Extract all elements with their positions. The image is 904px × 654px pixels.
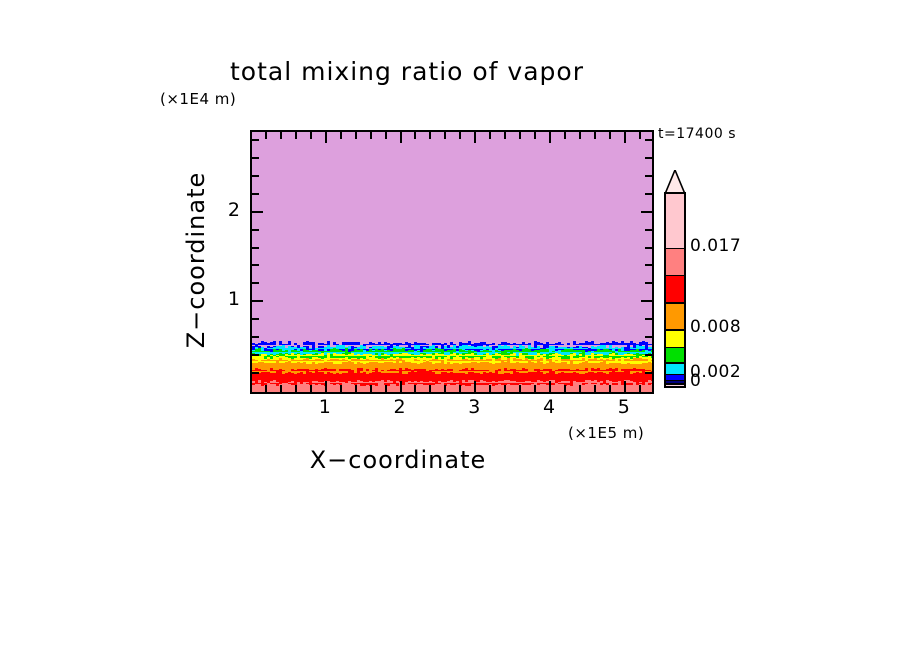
x-tick <box>370 385 372 392</box>
y-tick <box>252 318 259 320</box>
contour-edge-noise <box>651 383 654 384</box>
contour-edge-noise <box>453 356 456 357</box>
contour-edge-noise <box>552 383 555 385</box>
x-tick <box>564 385 566 392</box>
contour-edge-noise <box>354 371 357 373</box>
y-axis-title: Z−coordinate <box>182 172 210 349</box>
x-tick <box>579 385 581 392</box>
y-tick-label: 2 <box>216 199 240 221</box>
y-tick <box>252 247 259 249</box>
x-tick <box>549 381 551 392</box>
y-tick-right <box>645 175 652 177</box>
contour-edge-noise <box>387 345 390 346</box>
x-tick <box>459 385 461 392</box>
contour-edge-noise <box>405 345 408 347</box>
x-tick-top <box>474 132 476 143</box>
contour-field <box>252 132 652 392</box>
x-tick-top <box>385 132 387 139</box>
contour-edge-noise <box>414 371 417 372</box>
contour-edge-noise <box>396 371 399 373</box>
x-tick <box>534 385 536 392</box>
contour-edge-noise <box>516 356 519 358</box>
colorbar <box>664 192 686 388</box>
x-tick <box>609 385 611 392</box>
x-tick-top <box>340 132 342 139</box>
contour-edge-noise <box>651 356 654 358</box>
figure-title: total mixing ratio of vapor <box>0 57 859 86</box>
colorbar-separator <box>666 302 684 304</box>
y-tick-right <box>645 372 652 374</box>
contour-edge-noise <box>369 356 372 357</box>
x-tick <box>295 385 297 392</box>
x-tick <box>355 385 357 392</box>
x-tick-top <box>519 132 521 139</box>
contour-edge-noise <box>312 371 315 373</box>
contour-edge-noise <box>423 361 426 362</box>
x-tick-top <box>429 132 431 139</box>
contour-edge-noise <box>534 371 537 372</box>
contour-edge-noise <box>582 356 585 357</box>
contour-edge-noise <box>546 361 549 363</box>
contour-edge-noise <box>621 371 624 372</box>
x-tick <box>594 385 596 392</box>
y-tick <box>252 354 259 356</box>
y-tick <box>252 175 259 177</box>
contour-edge-noise <box>510 371 513 374</box>
x-tick <box>250 385 252 392</box>
contour-edge-noise <box>639 371 642 373</box>
y-tick <box>252 229 259 231</box>
contour-edge-noise <box>345 361 348 362</box>
contour-edge-noise <box>507 352 510 353</box>
contour-edge-noise <box>444 356 447 357</box>
contour-edge-noise <box>372 371 375 372</box>
y-tick <box>252 157 259 159</box>
contour-edge-noise <box>342 382 345 383</box>
contour-edge-noise <box>408 371 411 372</box>
contour-edge-noise <box>429 356 432 358</box>
x-tick-top <box>609 132 611 139</box>
colorbar-segment <box>666 302 684 329</box>
x-tick-top <box>250 132 252 139</box>
x-tick-top <box>639 132 641 139</box>
y-tick-right <box>645 282 652 284</box>
x-tick-top <box>295 132 297 139</box>
contour-edge-noise <box>585 383 588 384</box>
colorbar-separator <box>666 248 684 250</box>
colorbar-tick-label: 0.008 <box>690 317 741 337</box>
y-tick-right <box>641 300 652 302</box>
contour-edge-noise <box>534 361 537 363</box>
y-tick <box>252 300 263 302</box>
x-tick <box>519 385 521 392</box>
x-tick-top <box>414 132 416 139</box>
x-tick <box>474 381 476 392</box>
x-tick-top <box>444 132 446 139</box>
contour-edge-noise <box>609 371 612 372</box>
y-tick <box>252 193 259 195</box>
contour-edge-noise <box>438 361 441 363</box>
y-tick-right <box>645 193 652 195</box>
x-tick-top <box>624 132 626 143</box>
contour-edge-noise <box>651 361 654 363</box>
colorbar-segment <box>666 275 684 303</box>
contour-edge-noise <box>624 345 627 347</box>
contour-edge-noise <box>498 352 501 353</box>
x-tick <box>414 385 416 392</box>
x-tick-top <box>265 132 267 139</box>
y-tick <box>252 372 259 374</box>
contour-edge-noise <box>252 345 255 346</box>
contour-edge-noise <box>294 356 297 358</box>
colorbar-separator <box>666 347 684 349</box>
x-tick-top <box>564 132 566 139</box>
contour-edge-noise <box>273 361 276 363</box>
x-tick <box>310 385 312 392</box>
x-tick <box>444 385 446 392</box>
contour-edge-noise <box>546 371 549 373</box>
contour-edge-noise <box>645 356 648 357</box>
x-tick <box>639 385 641 392</box>
contour-edge-noise <box>438 352 441 353</box>
x-tick <box>265 385 267 392</box>
colorbar-segment <box>666 329 684 346</box>
contour-edge-noise <box>300 383 303 384</box>
contour-edge-noise <box>324 356 327 358</box>
x-tick <box>385 385 387 392</box>
contour-edge-noise <box>276 356 279 357</box>
figure-canvas: total mixing ratio of vapor (×1E4 m) t=1… <box>0 0 904 654</box>
y-tick-right <box>645 247 652 249</box>
x-axis-title: X−coordinate <box>0 446 850 474</box>
contour-band <box>252 132 652 345</box>
contour-edge-noise <box>549 369 552 371</box>
x-tick <box>340 385 342 392</box>
y-tick <box>252 139 259 141</box>
contour-edge-noise <box>504 361 507 362</box>
contour-edge-noise <box>342 352 345 353</box>
contour-edge-noise <box>270 356 273 359</box>
x-tick-label: 4 <box>537 396 561 418</box>
x-tick-label: 2 <box>388 396 412 418</box>
timestamp-annotation: t=17400 s <box>658 126 736 142</box>
contour-edge-noise <box>402 383 405 385</box>
x-axis-unit-label: (×1E5 m) <box>568 424 644 442</box>
contour-edge-noise <box>375 383 378 386</box>
y-tick <box>252 211 263 213</box>
colorbar-segment <box>666 194 684 248</box>
x-tick-top <box>549 132 551 143</box>
contour-edge-noise <box>552 356 555 357</box>
contour-edge-noise <box>630 383 633 385</box>
contour-edge-noise <box>423 369 426 371</box>
x-tick-label: 1 <box>313 396 337 418</box>
contour-edge-noise <box>303 371 306 374</box>
contour-edge-noise <box>525 361 528 363</box>
x-tick-top <box>534 132 536 139</box>
x-tick <box>624 381 626 392</box>
y-tick-right <box>645 318 652 320</box>
contour-edge-noise <box>483 356 486 357</box>
y-tick <box>252 264 259 266</box>
colorbar-arrow-icon <box>664 170 686 194</box>
x-tick-top <box>504 132 506 139</box>
contour-edge-noise <box>345 371 348 373</box>
y-tick-right <box>645 139 652 141</box>
y-tick-right <box>645 264 652 266</box>
x-tick-top <box>355 132 357 139</box>
x-tick-top <box>325 132 327 143</box>
contour-edge-noise <box>345 348 348 352</box>
x-tick <box>429 385 431 392</box>
contour-edge-noise <box>582 361 585 362</box>
colorbar-tick-label: 0.017 <box>690 236 741 256</box>
contour-edge-noise <box>285 361 288 362</box>
colorbar-separator <box>666 374 684 376</box>
x-tick <box>280 385 282 392</box>
y-tick <box>252 336 259 338</box>
contour-edge-noise <box>588 356 591 358</box>
x-tick-top <box>594 132 596 139</box>
y-tick-right <box>645 354 652 356</box>
y-tick-right <box>645 157 652 159</box>
contour-edge-noise <box>615 383 618 385</box>
x-tick <box>489 385 491 392</box>
colorbar-segment <box>666 248 684 275</box>
colorbar-separator <box>666 362 684 364</box>
colorbar-separator <box>666 383 684 385</box>
y-tick-right <box>641 211 652 213</box>
contour-edge-noise <box>579 352 582 353</box>
colorbar-separator <box>666 275 684 277</box>
contour-edge-noise <box>570 383 573 386</box>
contour-edge-noise <box>273 371 276 373</box>
contour-edge-noise <box>399 361 402 363</box>
contour-edge-noise <box>498 361 501 363</box>
contour-edge-noise <box>537 356 540 357</box>
contour-edge-noise <box>465 352 468 353</box>
contour-edge-noise <box>567 361 570 364</box>
x-tick <box>504 385 506 392</box>
x-tick-top <box>400 132 402 143</box>
y-axis-unit-label: (×1E4 m) <box>160 90 236 108</box>
y-tick-right <box>645 229 652 231</box>
colorbar-segment <box>666 362 684 374</box>
contour-edge-noise <box>642 383 645 385</box>
colorbar-separator <box>666 380 684 382</box>
x-tick-top <box>280 132 282 139</box>
x-tick <box>400 381 402 392</box>
contour-edge-noise <box>600 361 603 362</box>
x-tick-top <box>370 132 372 139</box>
colorbar-segment <box>666 347 684 362</box>
colorbar-tick-label: 0 <box>690 371 701 391</box>
x-tick-top <box>579 132 581 139</box>
contour-plot-area <box>250 130 654 394</box>
contour-edge-noise <box>492 371 495 373</box>
x-tick-top <box>489 132 491 139</box>
colorbar-separator <box>666 329 684 331</box>
y-tick <box>252 282 259 284</box>
y-tick-label: 1 <box>216 288 240 310</box>
y-tick-right <box>645 336 652 338</box>
x-tick-label: 5 <box>612 396 636 418</box>
x-tick-label: 3 <box>462 396 486 418</box>
contour-edge-noise <box>393 361 396 363</box>
x-tick-top <box>459 132 461 139</box>
x-tick-top <box>310 132 312 139</box>
contour-edge-noise <box>438 383 441 384</box>
x-tick <box>325 381 327 392</box>
